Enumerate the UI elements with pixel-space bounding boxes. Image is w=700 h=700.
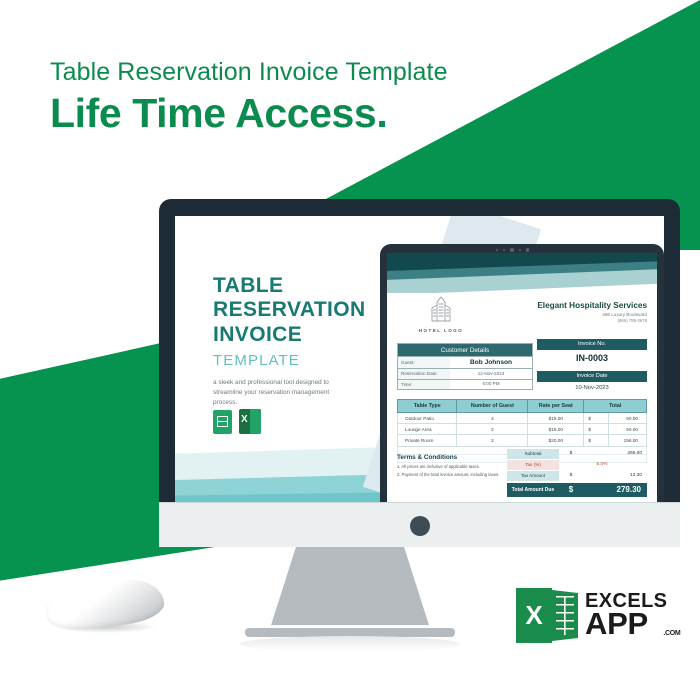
cell-type: Lounge Area (398, 424, 457, 435)
cell-currency: $ (584, 424, 609, 435)
cell-rate: $15.00 (528, 413, 584, 424)
terms-line-2: 2. Payment of the total invoice amount, … (397, 472, 517, 478)
imac-chin (159, 502, 680, 547)
terms-block: Terms & Conditions 1. All prices are inc… (397, 454, 517, 478)
table-row: Reservation Date: 12-Nov-2023 (398, 368, 532, 379)
excel-icon-letter: X (241, 414, 248, 425)
customer-label-guest: Guest: (398, 357, 450, 368)
promo-title: Life Time Access. (50, 92, 448, 135)
terms-line-1: 1. All prices are inclusive of applicabl… (397, 464, 517, 470)
company-name: Elegant Hospitality Services (537, 301, 647, 310)
invoice-number-value: IN-0003 (537, 350, 647, 363)
company-address: 456 Luxury Boulevard (537, 312, 647, 317)
table-row: Outdoor Patio 4 $15.00 $ 60.00 (398, 413, 647, 424)
hotel-building-icon (426, 296, 456, 322)
invoice-date-block: Invoice Date 10-Nov-2023 (537, 371, 647, 391)
invoice-date-value: 10-Nov-2023 (537, 382, 647, 391)
subtotal-value: 266.00 (583, 451, 647, 456)
google-sheets-icon (213, 410, 232, 434)
excel-icon: X (239, 409, 261, 434)
cell-total: 156.00 (609, 435, 647, 446)
tax-amount-value: 13.30 (583, 473, 647, 478)
column-guests: Number of Guest (457, 400, 528, 413)
imac-stand-neck (271, 546, 429, 632)
customer-label-time: Time: (398, 380, 450, 390)
cell-guests: 2 (457, 424, 528, 435)
tablet-screen: HOTEL LOGO Elegant Hospitality Services … (387, 253, 657, 502)
excel-logo-grid (552, 590, 578, 641)
company-phone: (866) 789-3678 (537, 318, 647, 323)
table-row: Time: 6:00 PM (398, 379, 532, 390)
table-row: Lounge Area 2 $18.00 $ 50.00 (398, 424, 647, 435)
promo-subtitle: Table Reservation Invoice Template (50, 58, 448, 87)
invoice-document: HOTEL LOGO Elegant Hospitality Services … (387, 253, 657, 502)
customer-value-guest: Bob Johnson (450, 357, 532, 368)
cell-type: Private Room (398, 435, 457, 446)
imac-logo-dot (410, 516, 430, 536)
excelsapp-logo: X EXCELS APP .COM (516, 588, 667, 643)
total-due-label: Total Amount Due (507, 487, 559, 493)
table-row: Private Room 2 $20.00 $ 156.00 (398, 435, 647, 446)
customer-value-date: 12-Nov-2023 (450, 369, 532, 379)
computer-mouse (46, 583, 164, 633)
column-table-type: Table Type (398, 400, 457, 413)
cell-total: 60.00 (609, 413, 647, 424)
total-due-currency: $ (559, 485, 583, 494)
column-total: Total (584, 400, 647, 413)
hotel-logo-label: HOTEL LOGO (409, 328, 473, 333)
cell-currency: $ (584, 413, 609, 424)
imac-screen: TABLE RESERVATION INVOICE TEMPLATE a sle… (175, 216, 664, 502)
terms-heading: Terms & Conditions (397, 454, 517, 461)
headline-block: Table Reservation Invoice Template Life … (50, 58, 448, 135)
tablet-camera-dots (496, 248, 529, 252)
cell-type: Outdoor Patio (398, 413, 457, 424)
cell-currency: $ (584, 435, 609, 446)
customer-label-date: Reservation Date: (398, 369, 450, 379)
customer-details-header: Customer Details (398, 344, 532, 356)
cell-rate: $18.00 (528, 424, 584, 435)
invoice-number-header: Invoice No. (537, 339, 647, 350)
poster-canvas: Table Reservation Invoice Template Life … (0, 0, 700, 700)
cell-guests: 4 (457, 413, 528, 424)
slide-description: a sleek and professional tool designed t… (213, 378, 348, 408)
excel-logo-icon: X (516, 588, 578, 643)
totals-block: Subtotal $ 266.00 Tax (%) 5.0% (507, 449, 647, 497)
tax-amount-label: Tax Amount (507, 471, 559, 481)
table-header-row: Table Type Number of Guest Rate per Seat… (398, 400, 647, 413)
total-due-value: 279.30 (583, 485, 647, 494)
brand-domain: .COM (663, 631, 680, 637)
company-info: Elegant Hospitality Services 456 Luxury … (537, 301, 647, 323)
tablet-mockup: HOTEL LOGO Elegant Hospitality Services … (380, 244, 664, 502)
tax-amount-row: Tax Amount $ 13.30 (507, 471, 647, 481)
tax-amount-currency: $ (559, 473, 583, 478)
hotel-logo: HOTEL LOGO (409, 296, 473, 333)
customer-details-table: Customer Details Guest: Bob Johnson Rese… (397, 343, 533, 390)
subtotal-row: Subtotal $ 266.00 (507, 449, 647, 459)
brand-line-2-text: APP (585, 606, 648, 641)
tax-rate-value: 5.0% (583, 462, 647, 467)
file-format-icons: X (213, 409, 261, 434)
cell-total: 50.00 (609, 424, 647, 435)
invoice-number-block: Invoice No. IN-0003 (537, 339, 647, 363)
invoice-date-header: Invoice Date (537, 371, 647, 382)
column-rate: Rate per Seat (528, 400, 584, 413)
imac-stand-shadow (240, 636, 460, 652)
brand-line-2: APP .COM (585, 610, 667, 639)
cell-guests: 2 (457, 435, 528, 446)
cell-rate: $20.00 (528, 435, 584, 446)
excel-logo-letter: X (516, 588, 552, 643)
table-row: Guest: Bob Johnson (398, 356, 532, 368)
subtotal-currency: $ (559, 451, 583, 456)
tax-rate-row: Tax (%) 5.0% (507, 460, 647, 470)
total-due-row: Total Amount Due $ 279.30 (507, 483, 647, 497)
imac-mockup: TABLE RESERVATION INVOICE TEMPLATE a sle… (159, 199, 680, 547)
brand-wordmark: EXCELS APP .COM (585, 592, 667, 639)
imac-bezel: TABLE RESERVATION INVOICE TEMPLATE a sle… (159, 199, 680, 502)
customer-value-time: 6:00 PM (450, 380, 532, 390)
subtotal-label: Subtotal (507, 449, 559, 459)
invoice-header-wave (387, 253, 657, 293)
tax-rate-label: Tax (%) (507, 460, 559, 470)
invoice-header: HOTEL LOGO Elegant Hospitality Services … (387, 295, 657, 335)
